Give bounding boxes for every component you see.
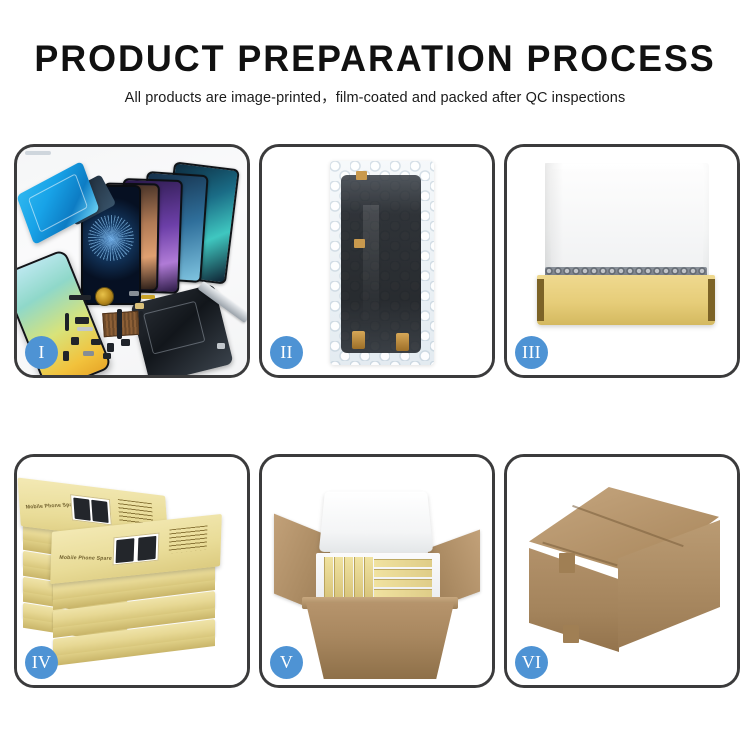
yellow-boxes-inside-icon — [324, 557, 432, 599]
yellow-box-tray-icon — [537, 275, 715, 325]
process-step-panel-4: Mobile Phone Spare Parts Mobile Phone Sp… — [14, 454, 250, 688]
connector-icon — [396, 333, 409, 351]
step-badge-5: V — [270, 646, 303, 679]
step-3-illustration: III — [507, 147, 737, 375]
component-chip-icon — [103, 353, 111, 359]
step-badge-3: III — [515, 336, 548, 369]
connector-icon — [352, 331, 365, 349]
step-5-illustration: V — [262, 457, 492, 685]
component-chip-icon — [129, 291, 139, 296]
tape-strip-icon — [354, 239, 365, 248]
process-step-panel-1: I — [14, 144, 250, 378]
step-badge-1: I — [25, 336, 58, 369]
tape-strip-icon — [356, 171, 367, 180]
component-chip-icon — [141, 295, 155, 299]
component-chip-icon — [63, 351, 69, 361]
bubble-wrap-package-icon — [330, 161, 434, 365]
step-badge-6: VI — [515, 646, 548, 679]
component-chip-icon — [217, 343, 225, 349]
component-chip-icon — [91, 339, 101, 345]
component-chip-icon — [69, 295, 91, 300]
carton-tape-icon — [559, 553, 575, 573]
process-step-panel-6: VI — [504, 454, 740, 688]
product-preparation-infographic: PRODUCT PREPARATION PROCESS All products… — [0, 0, 750, 750]
page-subtitle: All products are image-printed，film-coat… — [0, 86, 750, 107]
flex-cable-icon — [117, 309, 122, 339]
step-badge-4: IV — [25, 646, 58, 679]
process-step-panel-5: V — [259, 454, 495, 688]
component-chip-icon — [71, 337, 79, 345]
carton-tape-icon — [563, 625, 579, 643]
step-6-illustration: VI — [507, 457, 737, 685]
page-title: PRODUCT PREPARATION PROCESS — [11, 38, 739, 80]
foam-lid-open-icon — [319, 491, 433, 551]
step-4-illustration: Mobile Phone Spare Parts Mobile Phone Sp… — [17, 457, 247, 685]
step-2-illustration: II — [262, 147, 492, 375]
flex-cable-icon — [139, 311, 143, 337]
speaker-coil-icon — [95, 287, 114, 306]
flex-cable-icon — [65, 313, 69, 331]
header: PRODUCT PREPARATION PROCESS All products… — [0, 38, 750, 107]
step-1-illustration: I — [17, 147, 247, 375]
box-window-icon — [113, 533, 160, 566]
box-window-icon — [70, 494, 112, 525]
component-chip-icon — [107, 343, 114, 352]
component-chip-icon — [77, 327, 93, 331]
step-badge-2: II — [270, 336, 303, 369]
process-step-panel-3: III — [504, 144, 740, 378]
component-chip-icon — [83, 351, 94, 356]
box-spec-lines-icon — [169, 525, 208, 553]
component-chip-icon — [135, 303, 144, 309]
component-chip-icon — [75, 317, 89, 324]
component-chip-icon — [121, 339, 130, 346]
process-step-grid: I II I — [14, 144, 736, 684]
carton-body-icon — [306, 603, 454, 679]
process-step-panel-2: II — [259, 144, 495, 378]
lcd-screen-icon — [341, 175, 421, 353]
